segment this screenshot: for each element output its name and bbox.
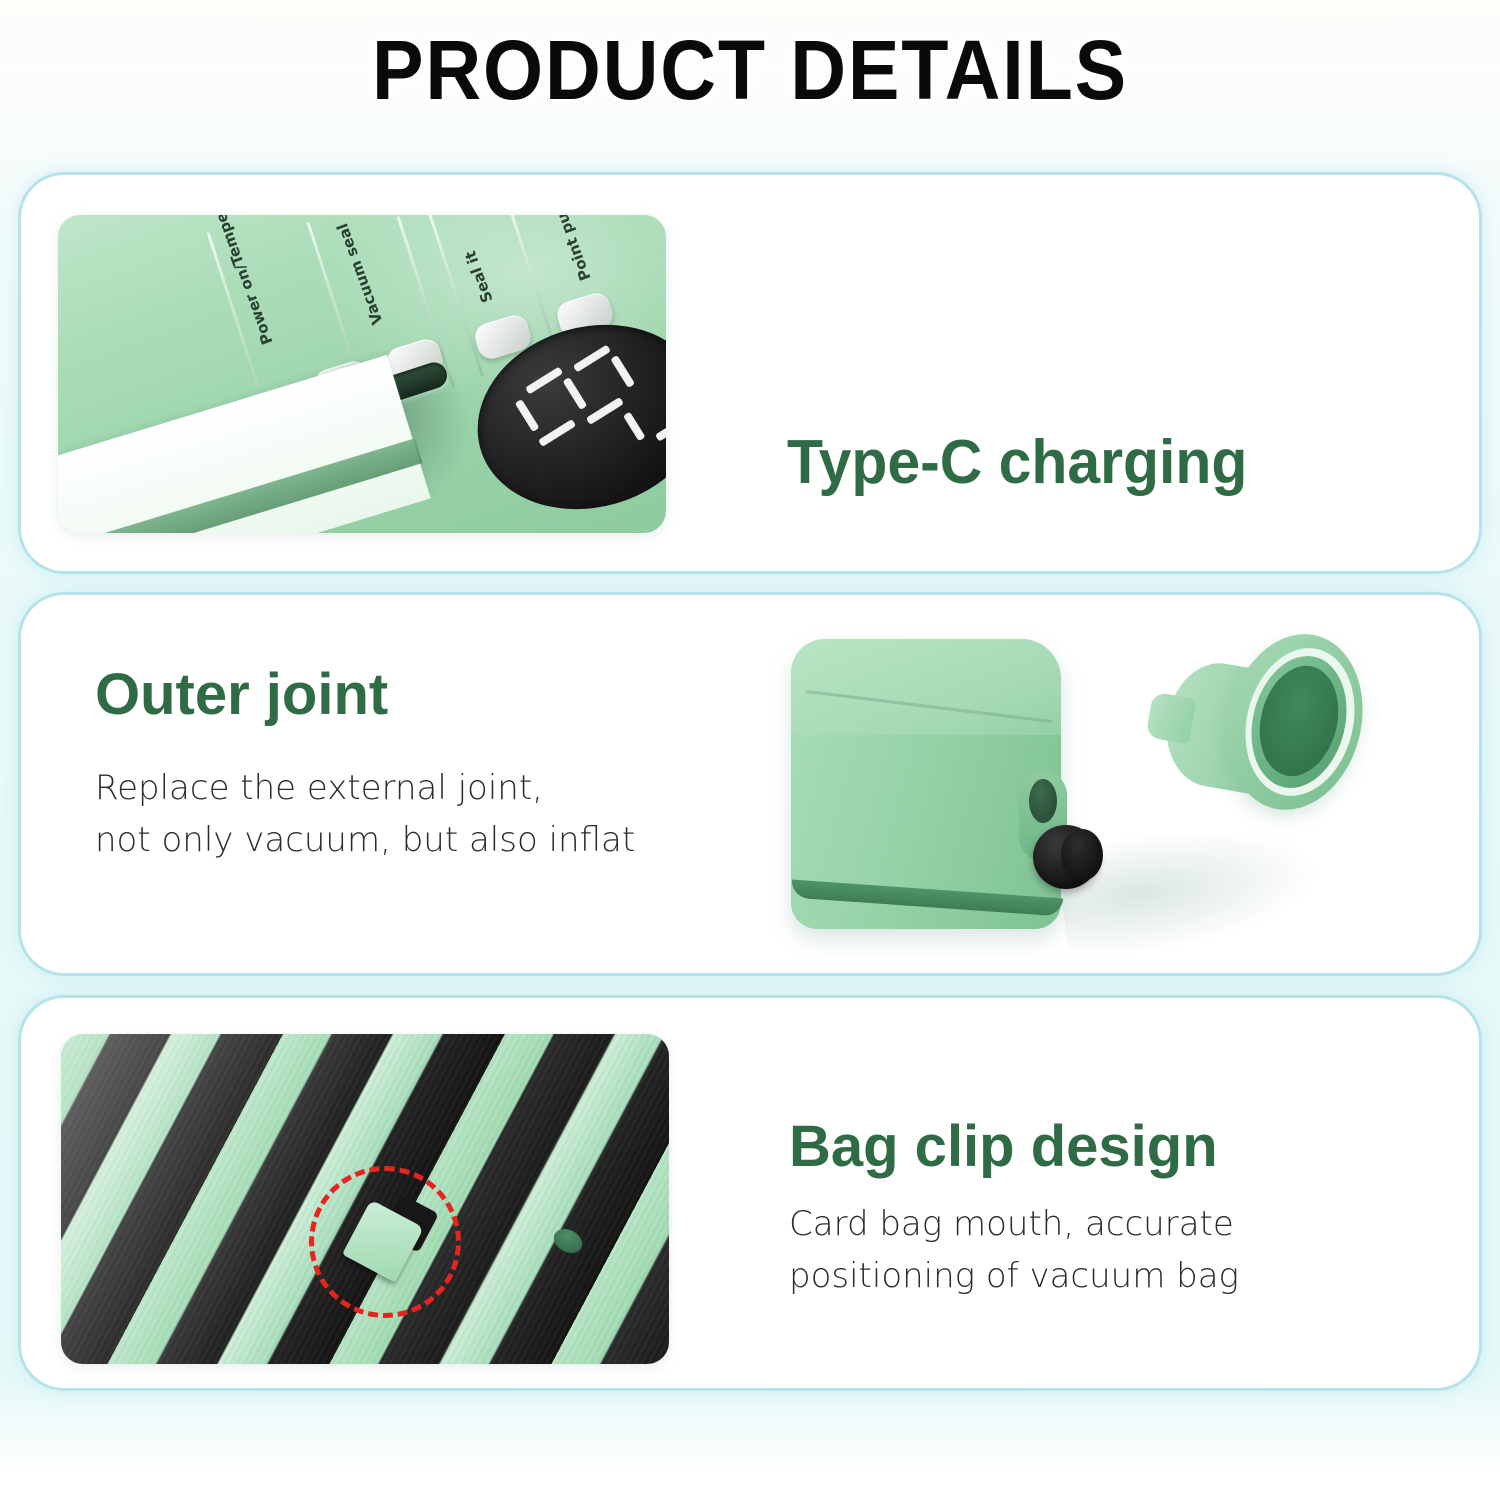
card-body-line-2: positioning of vacuum bag xyxy=(789,1250,1239,1302)
card-body: Replace the external joint, not only vac… xyxy=(95,762,635,866)
card-text-outer-joint: Outer joint Replace the external joint, … xyxy=(95,661,635,866)
card-heading: Outer joint xyxy=(95,661,635,728)
rubber-plug-cap xyxy=(1061,829,1103,881)
detail-card-type-c-charging: Power on/Temperature Vacuum seal Seal it… xyxy=(18,172,1482,574)
card-text-type-c-charging: Type-C charging xyxy=(787,427,1272,498)
highlight-circle-annotation xyxy=(309,1166,461,1318)
product-photo-outer-joint xyxy=(761,617,1421,957)
detail-card-bag-clip-design: Bag clip design Card bag mouth, accurate… xyxy=(18,995,1482,1391)
card-heading: Bag clip design xyxy=(789,1113,1239,1180)
product-photo-type-c-charging: Power on/Temperature Vacuum seal Seal it… xyxy=(58,215,666,533)
device-top-face xyxy=(791,639,1061,735)
card-body-line-1: Card bag mouth, accurate xyxy=(789,1198,1239,1250)
card-body-line-2: not only vacuum, but also inflat xyxy=(95,814,635,866)
joint-port-hole xyxy=(1029,779,1057,823)
product-photo-bag-clip-design xyxy=(61,1034,669,1364)
card-body: Card bag mouth, accurate positioning of … xyxy=(789,1198,1239,1302)
detail-card-outer-joint: Outer joint Replace the external joint, … xyxy=(18,592,1482,976)
card-text-bag-clip-design: Bag clip design Card bag mouth, accurate… xyxy=(789,1113,1239,1302)
card-heading: Type-C charging xyxy=(787,427,1247,498)
page-title: PRODUCT DETAILS xyxy=(60,22,1440,119)
nozzle-stem xyxy=(1145,692,1196,745)
card-body-line-1: Replace the external joint, xyxy=(95,762,635,814)
